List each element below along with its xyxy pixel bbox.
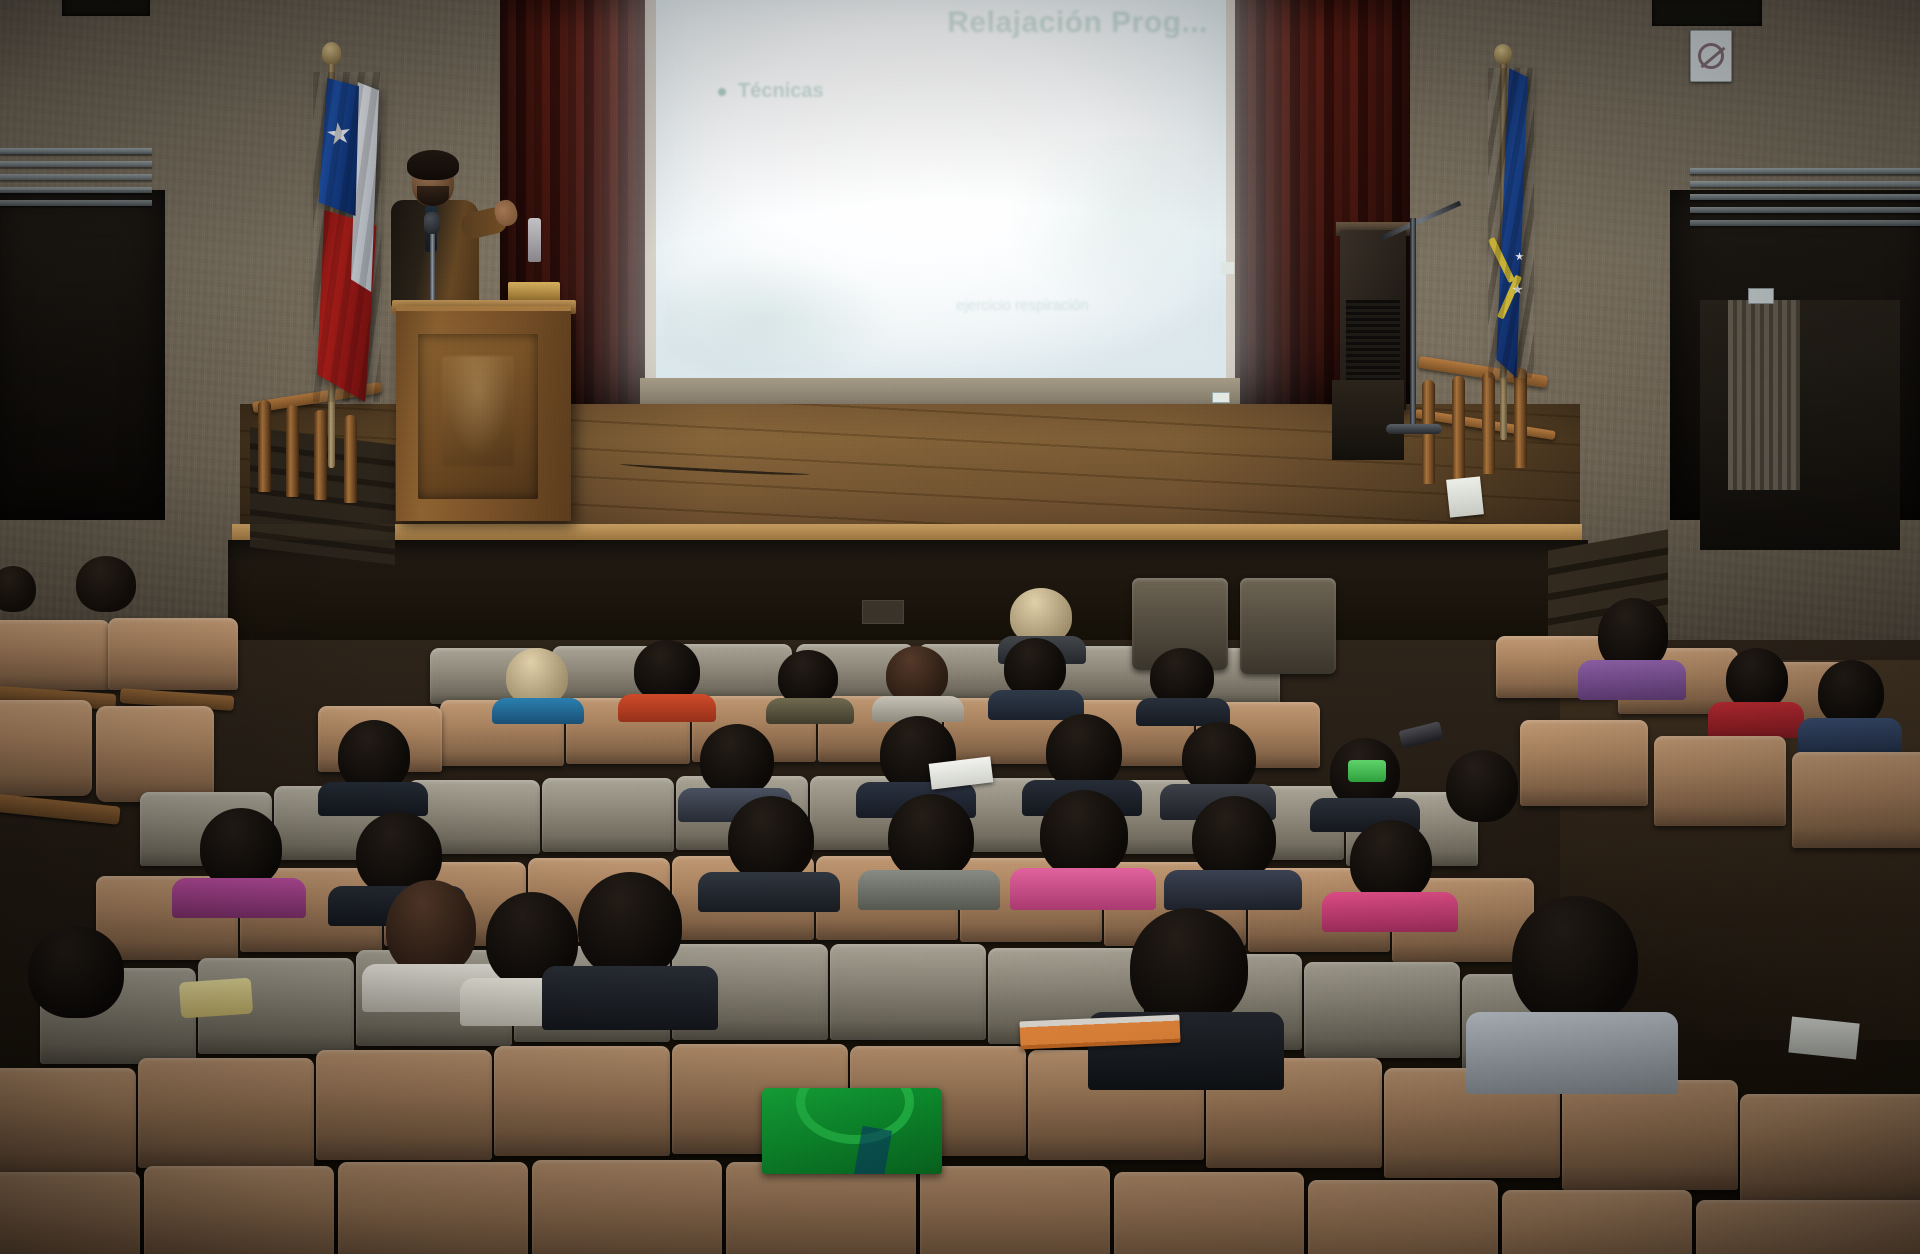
yellow-object bbox=[179, 978, 253, 1019]
seat bbox=[0, 1068, 136, 1178]
seat bbox=[316, 1050, 492, 1160]
seat bbox=[830, 944, 986, 1040]
seat bbox=[0, 620, 110, 690]
green-tote-bag bbox=[762, 1088, 942, 1174]
seat bbox=[1308, 1180, 1498, 1254]
seat bbox=[0, 1172, 140, 1254]
seat bbox=[532, 1160, 722, 1254]
seat bbox=[0, 700, 92, 796]
seat bbox=[1304, 962, 1460, 1058]
folding-chair bbox=[1240, 578, 1336, 674]
green-object bbox=[1348, 760, 1386, 782]
seat bbox=[1562, 1080, 1738, 1190]
seat bbox=[1696, 1200, 1920, 1254]
seat bbox=[920, 1166, 1110, 1254]
seat bbox=[1114, 1172, 1304, 1254]
seat bbox=[1740, 1094, 1920, 1206]
seat bbox=[338, 1162, 528, 1254]
seat bbox=[138, 1058, 314, 1168]
seat bbox=[726, 1162, 916, 1254]
seat bbox=[1502, 1190, 1692, 1254]
seat bbox=[108, 618, 238, 690]
notebook bbox=[1788, 1017, 1859, 1060]
seat bbox=[1792, 752, 1920, 848]
seat bbox=[494, 1046, 670, 1156]
seat bbox=[96, 706, 214, 802]
seat bbox=[542, 778, 674, 852]
seat bbox=[144, 1166, 334, 1254]
seat bbox=[1654, 736, 1786, 826]
seat bbox=[1520, 720, 1648, 806]
auditorium-photo: Relajación Prog... Técnicas ejercicio re… bbox=[0, 0, 1920, 1254]
audience-seating bbox=[0, 0, 1920, 1254]
